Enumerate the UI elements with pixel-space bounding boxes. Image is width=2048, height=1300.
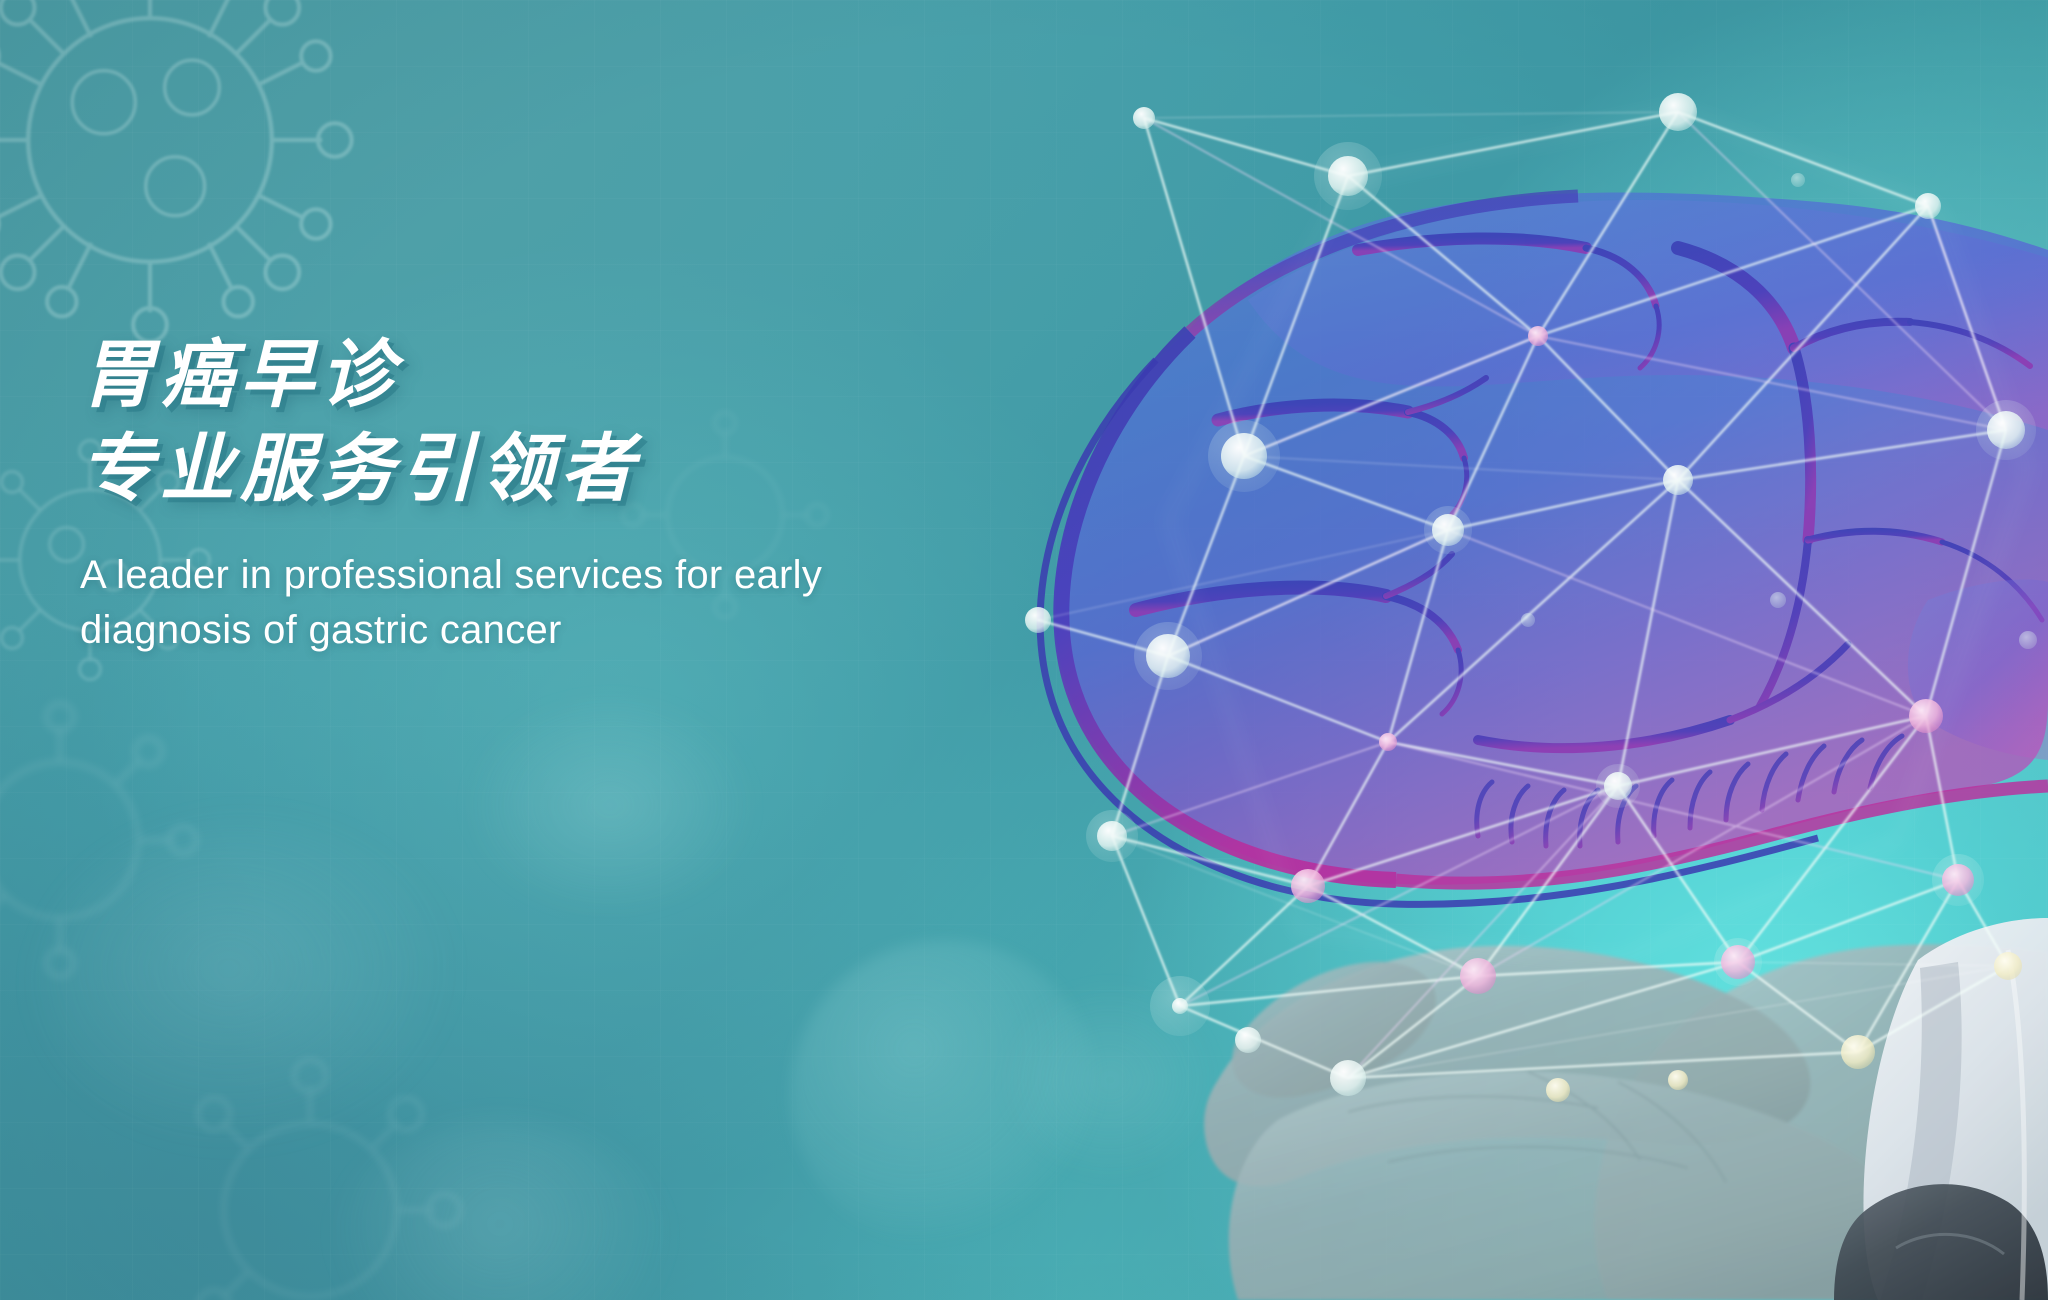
headline-line-2: 专业服务引领者 xyxy=(80,426,980,512)
subheadline-english: A leader in professional services for ea… xyxy=(80,548,880,658)
hero-copy: 胃癌早诊 专业服务引领者 A leader in professional se… xyxy=(80,332,980,658)
hero-banner: 胃癌早诊 专业服务引领者 A leader in professional se… xyxy=(0,0,2048,1300)
headline-line-1: 胃癌早诊 xyxy=(80,332,980,418)
